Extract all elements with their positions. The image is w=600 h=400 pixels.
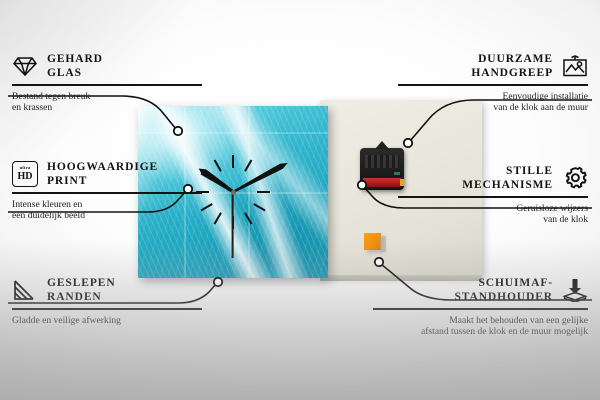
feature-description: Maakt het behouden van een gelijkeafstan… (373, 315, 588, 338)
feature-stille-mechanisme: STILLEMECHANISME Geruisloze wijzersvan d… (398, 164, 588, 226)
divider (373, 308, 588, 310)
feature-description: Geruisloze wijzersvan de klok (398, 203, 588, 226)
framed-picture-icon (562, 53, 588, 79)
divider (398, 84, 588, 86)
gear-icon (562, 165, 588, 191)
feature-description: Intense kleuren eneen duidelijk beeld (12, 199, 202, 222)
feature-geslepen-randen: GESLEPENRANDEN Gladde en veilige afwerki… (12, 276, 202, 326)
divider (398, 196, 588, 198)
ultra-hd-icon-bottom-label: HD (18, 172, 33, 182)
divider (12, 192, 202, 194)
down-arrow-pad-icon (562, 277, 588, 303)
feature-duurzame-handgreep: DUURZAMEHANDGREEP Eenvoudige installatie… (398, 52, 588, 114)
feature-schuimaf-standhouder: SCHUIMAF-STANDHOUDER Maakt het behouden … (373, 276, 588, 338)
feature-hoogwaardige-print: ultra HD HOOGWAARDIGEPRINT Intense kleur… (12, 160, 202, 222)
feature-title: SCHUIMAF-STANDHOUDER (454, 276, 553, 304)
movement-hanger (375, 141, 389, 149)
feature-header: STILLEMECHANISME (398, 164, 588, 192)
movement-grill (365, 155, 399, 168)
feature-header: GEHARDGLAS (12, 52, 202, 80)
feature-title: GESLEPENRANDEN (47, 276, 116, 304)
bevelled-edges-icon (12, 277, 38, 303)
feature-header: GESLEPENRANDEN (12, 276, 202, 304)
ultra-hd-icon: ultra HD (12, 161, 38, 187)
feature-title: STILLEMECHANISME (462, 164, 553, 192)
feature-description: Eenvoudige installatievan de klok aan de… (398, 91, 588, 114)
feature-header: SCHUIMAF-STANDHOUDER (373, 276, 588, 304)
feature-title: DUURZAMEHANDGREEP (471, 52, 553, 80)
feature-gehard-glas: GEHARDGLAS Bestand tegen breuken krassen (12, 52, 202, 114)
feature-description: Gladde en veilige afwerking (12, 315, 202, 327)
feature-title: GEHARDGLAS (47, 52, 103, 80)
feature-header: DUURZAMEHANDGREEP (398, 52, 588, 80)
feature-title: HOOGWAARDIGEPRINT (47, 160, 158, 188)
feature-description: Bestand tegen breuken krassen (12, 91, 202, 114)
foam-spacer-pad (364, 233, 381, 250)
diamond-icon (12, 53, 38, 79)
second-hand (232, 192, 234, 258)
hands-center-cap (231, 190, 236, 195)
battery (363, 178, 401, 187)
divider (12, 84, 202, 86)
feature-header: ultra HD HOOGWAARDIGEPRINT (12, 160, 202, 188)
product-infographic: GEHARDGLAS Bestand tegen breuken krassen… (0, 0, 600, 400)
divider (12, 308, 202, 310)
